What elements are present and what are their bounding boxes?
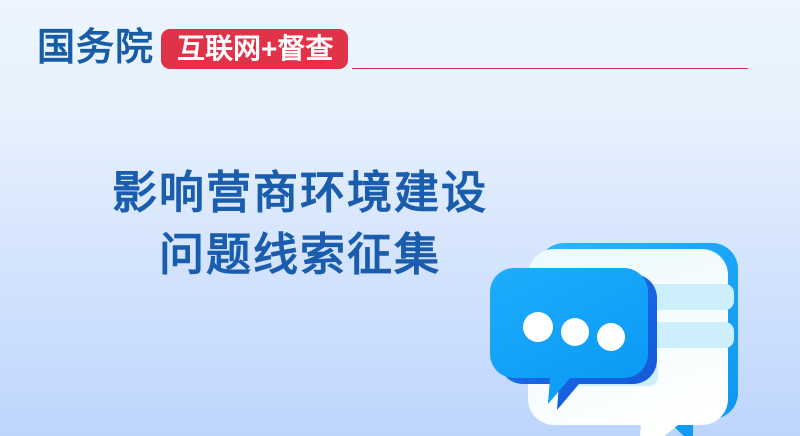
small-bubble-dot (597, 323, 625, 351)
gov-logo-text: 国务院 (37, 26, 154, 70)
banner-header: 国务院 互联网+督查 (0, 0, 800, 90)
program-badge: 互联网+督查 (161, 29, 348, 69)
program-badge-label: 互联网+督查 (177, 34, 333, 64)
chat-bubbles-illustration (486, 222, 786, 436)
small-bubble-dot (523, 312, 553, 342)
page-title-line-1: 影响营商环境建设 (0, 162, 600, 224)
small-bubble-dot (561, 318, 589, 346)
header-divider-rule (352, 68, 748, 69)
banner-root: 国务院 互联网+督查 影响营商环境建设 问题线索征集 (0, 0, 800, 436)
